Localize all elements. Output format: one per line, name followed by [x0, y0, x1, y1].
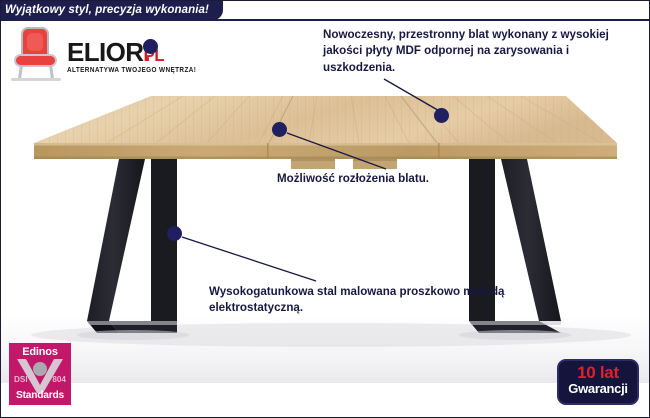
callout-dot-bottom[interactable] — [167, 226, 182, 241]
edinos-code-right: 804 — [52, 375, 66, 384]
edinos-certification-badge: Edinos DSI 804 Standards — [9, 343, 71, 405]
promo-image: Wyjątkowy styl, precyzja wykonania! ELIO… — [0, 0, 650, 418]
chair-leg-left — [18, 65, 23, 79]
chair-leg-right — [49, 65, 54, 79]
callout-text-extension: Możliwość rozłożenia blatu. — [277, 171, 527, 187]
callout-dot-top[interactable] — [434, 108, 449, 123]
red-chair-icon — [11, 27, 61, 81]
edinos-name: Edinos — [9, 346, 71, 358]
edinos-code-left: DSI — [14, 375, 28, 384]
brand-logo: ELIOR.PL ALTERNATYWA TWOJEGO WNĘTRZA! — [11, 25, 196, 83]
brand-wordmark: ELIOR.PL ALTERNATYWA TWOJEGO WNĘTRZA! — [67, 35, 196, 73]
brand-name-main: ELIOR — [67, 37, 143, 67]
edinos-standards: Standards — [9, 390, 71, 401]
warranty-label: Gwarancji — [559, 382, 637, 396]
brand-tagline: ALTERNATYWA TWOJEGO WNĘTRZA! — [67, 66, 196, 74]
callout-text-steel: Wysokogatunkowa stal malowana proszkowo … — [209, 284, 509, 317]
edinos-code: DSI 804 — [9, 375, 71, 384]
warranty-badge: 10 lat Gwarancji — [557, 359, 639, 405]
callout-text-tabletop: Nowoczesny, przestronny blat wykonany z … — [323, 27, 623, 76]
callout-dot-mid[interactable] — [272, 122, 287, 137]
chair-back — [21, 27, 49, 57]
table-leg-left — [87, 159, 177, 333]
brand-name: ELIOR.PL — [67, 39, 196, 65]
product-photo — [1, 83, 650, 383]
warranty-years: 10 lat — [559, 364, 637, 382]
headline-ribbon: Wyjątkowy styl, precyzja wykonania! — [0, 1, 223, 20]
chair-base — [11, 78, 61, 81]
